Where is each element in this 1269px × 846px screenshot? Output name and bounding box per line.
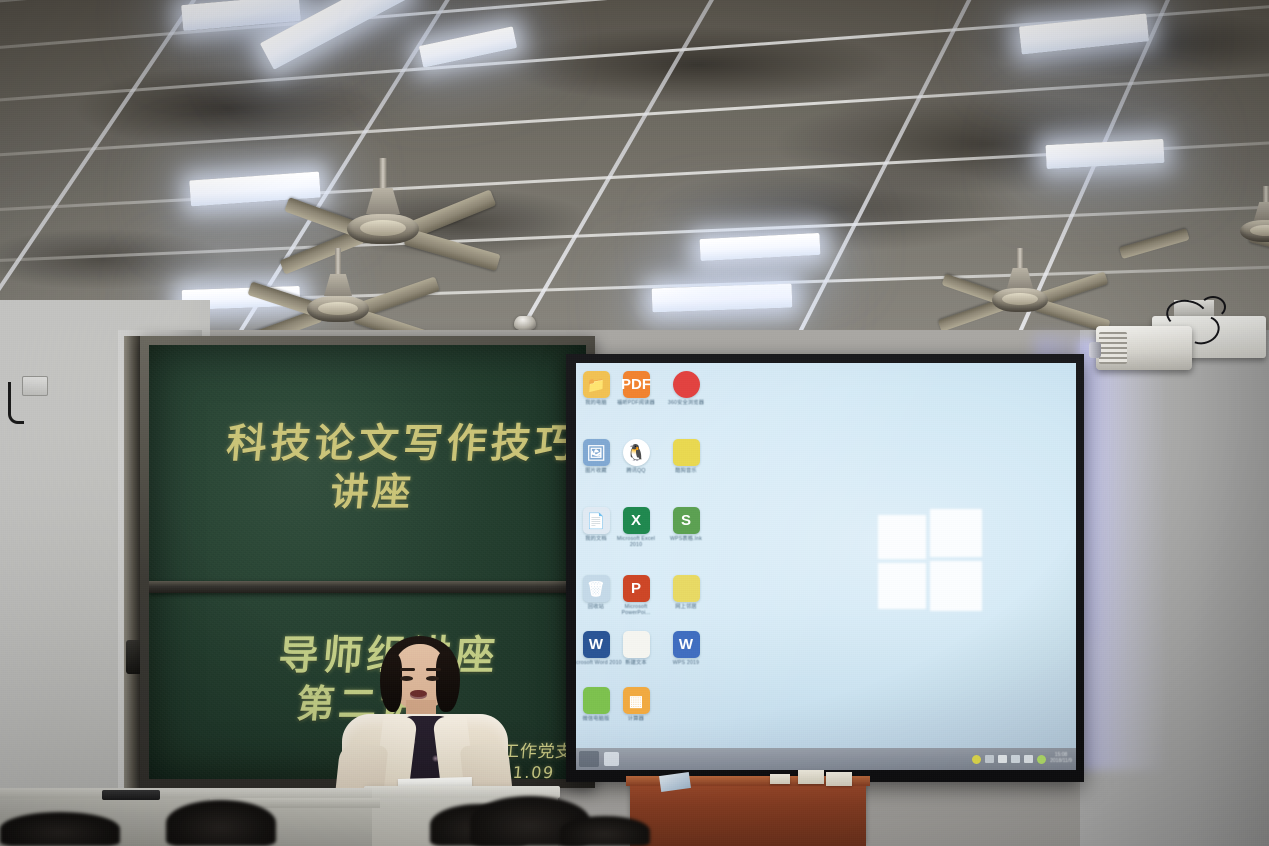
dome-camera-icon (514, 316, 536, 330)
paper-stack (770, 774, 790, 784)
audience-head (0, 812, 120, 846)
desktop-icon-label: 新建文本 (610, 660, 662, 666)
taskbar-item[interactable] (604, 752, 619, 766)
shield-icon[interactable] (972, 755, 981, 764)
paper-stack (798, 770, 824, 784)
wps-spreadsheet-icon[interactable]: SWPS表格.lnk (660, 507, 712, 542)
pictures-icon: 🖼 (583, 439, 610, 466)
speaker-brow (426, 668, 441, 671)
wps-spreadsheet-icon: S (673, 507, 700, 534)
excel-icon[interactable]: XMicrosoft Excel 2010 (610, 507, 662, 548)
power-outlet (22, 376, 48, 396)
taskbar[interactable]: 15:08 2018/11/9 (576, 748, 1076, 770)
network-icon (673, 575, 700, 602)
speaker-eye (400, 676, 413, 681)
desktop-icon-label: WPS表格.lnk (660, 536, 712, 542)
desk-object (102, 790, 160, 800)
lecture-hall-photo: 科技论文写作技巧 讲座 导师组讲座 第二讲 学生工作党支部 11.09 📁我的电… (0, 0, 1269, 846)
recycle-bin-icon: 🗑 (583, 575, 610, 602)
desktop-icon-label: 酷狗音乐 (660, 468, 712, 474)
volume-icon[interactable] (998, 755, 1007, 763)
pdf-reader-icon[interactable]: PDF福昕PDF阅读器 (610, 371, 662, 406)
word-icon: W (583, 631, 610, 658)
audience-head (560, 816, 650, 846)
desktop-icon-label: Microsoft Excel 2010 (610, 536, 662, 548)
projector-lens-icon (1089, 342, 1101, 358)
network-icon[interactable] (985, 755, 994, 763)
wooden-table (630, 782, 866, 846)
browser-icon[interactable]: 360安全浏览器 (660, 371, 712, 406)
chalkboard-track (124, 336, 141, 788)
folder-icon: 📁 (583, 371, 610, 398)
speaker-brow (400, 668, 415, 671)
ceiling-fan (248, 248, 428, 338)
documents-icon: 📄 (583, 507, 610, 534)
audience-head (166, 800, 276, 846)
security-icon[interactable] (1037, 755, 1046, 764)
chalkboard-title-line2: 讲座 (329, 461, 417, 516)
speaker-mouth (410, 690, 427, 699)
browser-icon (673, 371, 700, 398)
powerpoint-icon: P (623, 575, 650, 602)
desktop-icon-label: 网上邻居 (660, 604, 712, 610)
speaker-eye (426, 676, 439, 681)
speaker-hair-right (436, 652, 460, 712)
kugou-icon (673, 439, 700, 466)
system-tray[interactable]: 15:08 2018/11/9 (972, 753, 1076, 764)
desktop-icon-label: 360安全浏览器 (660, 400, 712, 406)
projection-screen: 📁我的电脑PDF福昕PDF阅读器360安全浏览器🖼图片收藏🐧腾讯QQ酷狗音乐📄我… (566, 354, 1084, 782)
desktop-icon-label: 腾讯QQ (610, 468, 662, 474)
qq-icon[interactable]: 🐧腾讯QQ (610, 439, 662, 474)
powerpoint-icon[interactable]: PMicrosoft PowerPoi... (610, 575, 662, 616)
notepad-icon[interactable]: 新建文本 (610, 631, 662, 666)
qq-icon: 🐧 (623, 439, 650, 466)
paper-stack (826, 772, 852, 786)
wps-office-icon: W (673, 631, 700, 658)
wall-cable (8, 382, 24, 424)
ceiling-fan (1206, 186, 1269, 256)
wps-office-icon[interactable]: WWPS 2019 (660, 631, 712, 666)
desktop-icon-label: Microsoft PowerPoi... (610, 604, 662, 616)
taskbar-clock[interactable]: 15:08 2018/11/9 (1050, 753, 1072, 764)
pdf-reader-icon: PDF (623, 371, 650, 398)
battery-icon[interactable] (1011, 755, 1020, 763)
calculator-icon[interactable]: ▦计算器 (610, 687, 662, 722)
ime-icon[interactable] (1024, 755, 1033, 763)
ceiling-light-panel (652, 284, 793, 313)
network-icon[interactable]: 网上邻居 (660, 575, 712, 610)
calculator-icon: ▦ (623, 687, 650, 714)
ceiling-fan (288, 158, 478, 258)
start-button[interactable] (579, 751, 599, 767)
speaker-hair-left (380, 654, 402, 712)
desktop-icon-label: 福昕PDF阅读器 (610, 400, 662, 406)
chalkboard-divider (149, 581, 586, 593)
ceiling-fan (940, 248, 1100, 328)
ceiling-projector (1096, 326, 1192, 370)
wechat-icon (583, 687, 610, 714)
excel-icon: X (623, 507, 650, 534)
notepad-icon (623, 631, 650, 658)
desktop-icon-label: 计算器 (610, 716, 662, 722)
projector-cable (1200, 296, 1226, 318)
projected-desktop[interactable]: 📁我的电脑PDF福昕PDF阅读器360安全浏览器🖼图片收藏🐧腾讯QQ酷狗音乐📄我… (576, 363, 1076, 770)
desktop-icon-label: WPS 2019 (660, 660, 712, 666)
projector-vent (1099, 332, 1127, 364)
front-desk-edge (0, 788, 372, 798)
kugou-icon[interactable]: 酷狗音乐 (660, 439, 712, 474)
